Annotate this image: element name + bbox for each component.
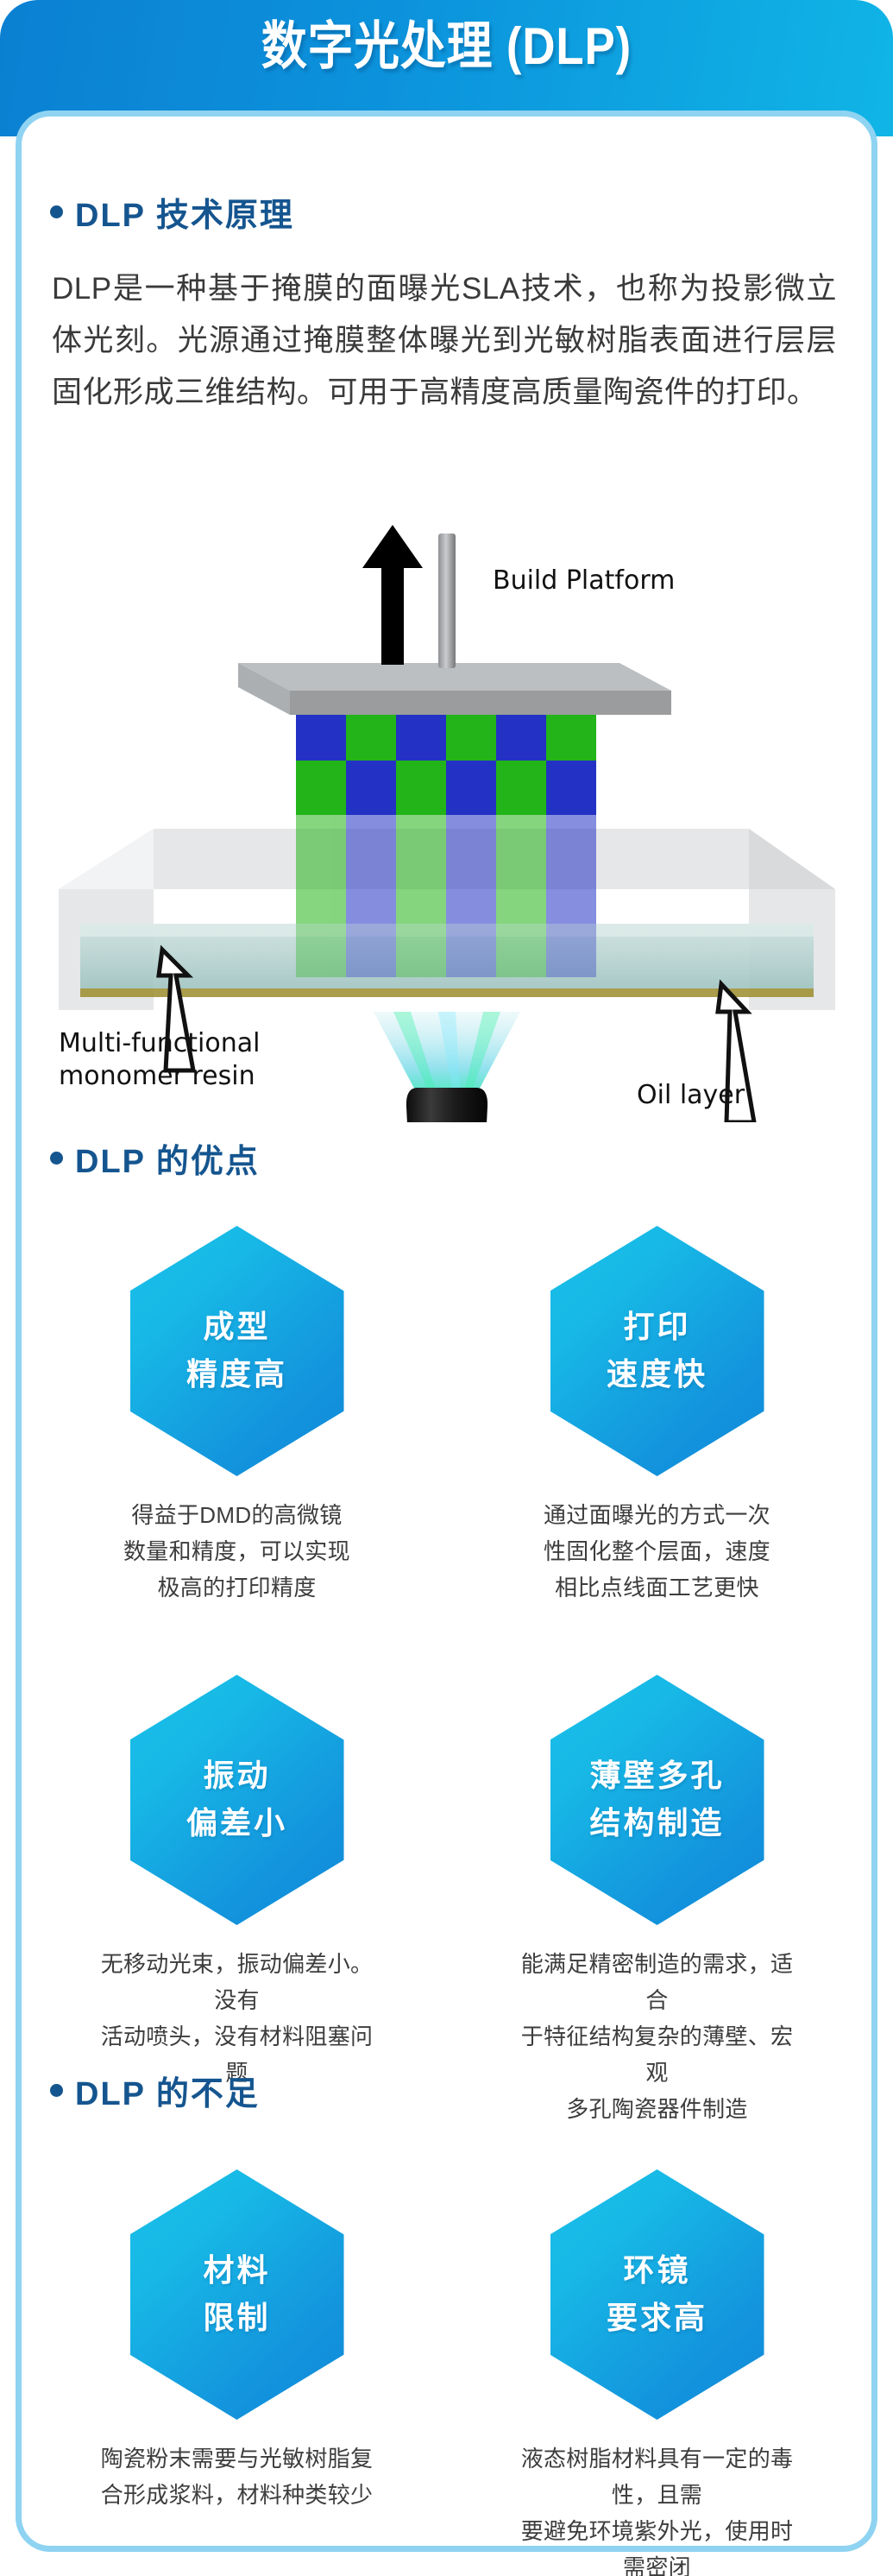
disadvantage-caption: 陶瓷粉末需要与光敏树脂复 合形成浆料，材料种类较少 [95,2440,380,2513]
disadvantage-card-2[interactable]: 环镜 要求高 液态树脂材料具有一定的毒性，且需 要避免环境紫外光，使用时需密闭 [462,2169,852,2576]
disadvantages-grid: 材料 限制 陶瓷粉末需要与光敏树脂复 合形成浆料，材料种类较少 环镜 要求高 液… [41,2169,852,2576]
dlp-diagram: Build Platform Multi-functional monomer … [33,518,861,1122]
advantage-title: 打印 速度快 [607,1304,707,1398]
hexagon-shape: 薄壁多孔 结构制造 [550,1675,764,1925]
bullet-icon [50,2084,63,2097]
part-reflection [296,924,596,977]
advantage-title: 成型 精度高 [186,1304,287,1398]
advantage-title: 振动 偏差小 [186,1752,287,1847]
disadvantage-title: 材料 限制 [203,2247,270,2341]
advantage-card-1[interactable]: 成型 精度高 得益于DMD的高微镜 数量和精度，可以实现 极高的打印精度 [41,1226,432,1606]
principle-paragraph: DLP是一种基于掩膜的面曝光SLA技术，也称为投影微立体光刻。光源通过掩膜整体曝… [52,263,837,420]
printed-part-checkerboard [296,706,596,815]
label-monomer-resin: Multi-functional monomer resin [59,1027,260,1092]
disadvantage-title: 环镜 要求高 [607,2247,707,2341]
vat-left-bevel [59,829,154,889]
advantage-card-2[interactable]: 打印 速度快 通过面曝光的方式一次 性固化整个层面，速度 相比点线面工艺更快 [462,1226,852,1606]
section-heading-disadvantages-label: DLP 的不足 [75,2067,260,2114]
section-heading-advantages-label: DLP 的优点 [75,1134,260,1182]
advantage-caption: 能满足精密制造的需求，适合 于特征结构复杂的薄壁、宏观 多孔陶瓷器件制造 [515,1946,800,2128]
hexagon-shape: 打印 速度快 [550,1226,764,1476]
hexagon-shape: 环镜 要求高 [550,2169,764,2420]
advantages-grid-row-2: 振动 偏差小 无移动光束，振动偏差小。没有 活动喷头，没有材料阻塞问题 薄壁多孔… [41,1675,852,2128]
bullet-icon [50,1152,63,1165]
disadvantage-caption: 液态树脂材料具有一定的毒性，且需 要避免环境紫外光，使用时需密闭 [515,2440,800,2576]
advantage-card-4[interactable]: 薄壁多孔 结构制造 能满足精密制造的需求，适合 于特征结构复杂的薄壁、宏观 多孔… [462,1675,852,2128]
advantage-title: 薄壁多孔 结构制造 [589,1752,724,1847]
advantages-grid-row-1: 成型 精度高 得益于DMD的高微镜 数量和精度，可以实现 极高的打印精度 打印 … [41,1226,852,1606]
section-heading-principle: DLP 技术原理 [50,188,294,236]
projector-body [406,1088,487,1122]
platform-rod [438,534,456,668]
bullet-icon [50,205,63,218]
advantage-card-3[interactable]: 振动 偏差小 无移动光束，振动偏差小。没有 活动喷头，没有材料阻塞问题 [41,1675,432,2128]
page-title: 数字光处理 (DLP) [53,14,840,79]
section-heading-advantages: DLP 的优点 [50,1134,260,1182]
hexagon-shape: 振动 偏差小 [130,1675,344,1925]
up-arrow-icon [362,525,423,665]
advantage-caption: 通过面曝光的方式一次 性固化整个层面，速度 相比点线面工艺更快 [515,1497,800,1606]
label-build-platform: Build Platform [493,565,675,597]
vat-right-bevel [749,829,835,889]
advantage-caption: 得益于DMD的高微镜 数量和精度，可以实现 极高的打印精度 [95,1497,380,1606]
infographic-page: 数字光处理 (DLP) DLP 技术原理 DLP是一种基于掩膜的面曝光SLA技术… [0,0,893,2576]
section-heading-principle-label: DLP 技术原理 [75,188,294,236]
section-heading-disadvantages: DLP 的不足 [50,2067,260,2114]
oil-film [80,988,814,997]
build-platform-front [290,691,671,715]
hexagon-shape: 材料 限制 [130,2169,344,2420]
part-submerged [296,815,596,924]
hexagon-shape: 成型 精度高 [130,1226,344,1476]
disadvantage-card-1[interactable]: 材料 限制 陶瓷粉末需要与光敏树脂复 合形成浆料，材料种类较少 [41,2169,432,2576]
label-oil-layer: Oil layer [637,1079,745,1112]
